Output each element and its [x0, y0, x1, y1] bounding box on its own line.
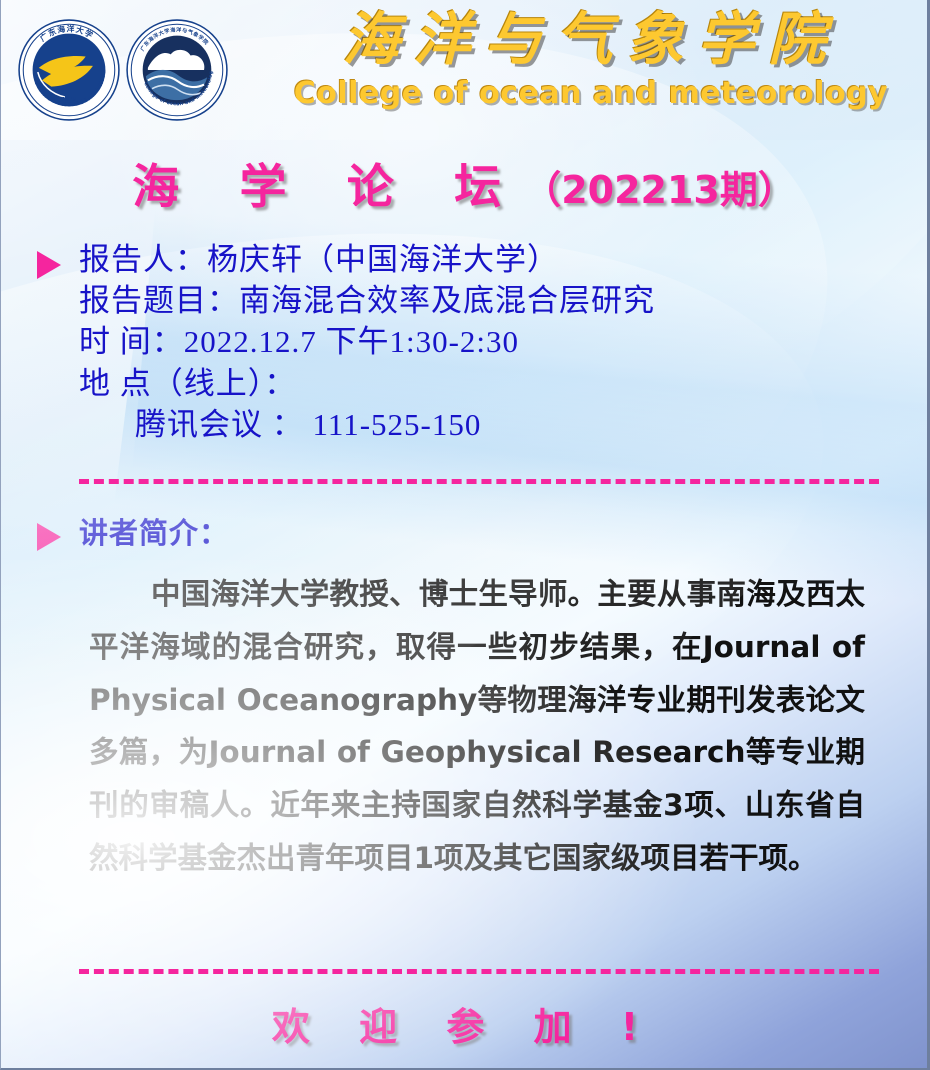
- bio-heading-row: 讲者简介：: [1, 510, 927, 552]
- speaker-line: 报告人：杨庆轩（中国海洋大学）: [79, 239, 655, 280]
- college-title-block: 海洋与气象学院 College of ocean and meteorology: [256, 8, 926, 111]
- footer: 欢 迎 参 加 !: [1, 996, 927, 1051]
- bio-body: 中国海洋大学教授、博士生导师。主要从事南海及西太平洋海域的混合研究，取得一些初步…: [89, 568, 865, 885]
- college-name-cn: 海洋与气象学院: [256, 8, 926, 74]
- venue-line: 地 点（线上）：: [79, 363, 655, 404]
- guangdong-ocean-university-logo-icon: 广东海洋大学 GUANGDONG OCEAN UNIVERSITY 1935: [17, 18, 121, 122]
- college-of-ocean-and-meteorology-logo-icon: 广东海洋大学海洋与气象学院 College of ocean and meteo…: [125, 18, 229, 122]
- triangle-right-icon: [37, 523, 61, 551]
- forum-title: 海 学 论 坛（202213期）: [1, 148, 927, 217]
- welcome-text: 欢 迎 参 加 !: [272, 1005, 656, 1049]
- poster-header: 广东海洋大学 GUANGDONG OCEAN UNIVERSITY 1935: [1, 0, 927, 140]
- meeting-id-line: 腾讯会议 ： 111-525-150: [79, 404, 655, 445]
- forum-issue: （202213期）: [523, 168, 796, 212]
- event-info: 报告人：杨庆轩（中国海洋大学） 报告题目：南海混合效率及底混合层研究 时 间：2…: [1, 239, 927, 445]
- time-line: 时 间：2022.12.7 下午1:30-2:30: [79, 321, 655, 362]
- college-name-en: College of ocean and meteorology: [256, 76, 926, 111]
- forum-title-cn: 海 学 论 坛: [132, 160, 523, 215]
- divider-top: [79, 479, 879, 484]
- event-info-lines: 报告人：杨庆轩（中国海洋大学） 报告题目：南海混合效率及底混合层研究 时 间：2…: [79, 239, 655, 445]
- topic-line: 报告题目：南海混合效率及底混合层研究: [79, 280, 655, 321]
- svg-text:1935: 1935: [62, 97, 77, 103]
- bio-heading: 讲者简介：: [79, 510, 229, 552]
- seminar-poster: 广东海洋大学 GUANGDONG OCEAN UNIVERSITY 1935: [0, 0, 930, 1070]
- divider-bottom: [79, 969, 879, 974]
- logo-group: 广东海洋大学 GUANGDONG OCEAN UNIVERSITY 1935: [17, 18, 229, 122]
- triangle-right-icon: [37, 251, 61, 279]
